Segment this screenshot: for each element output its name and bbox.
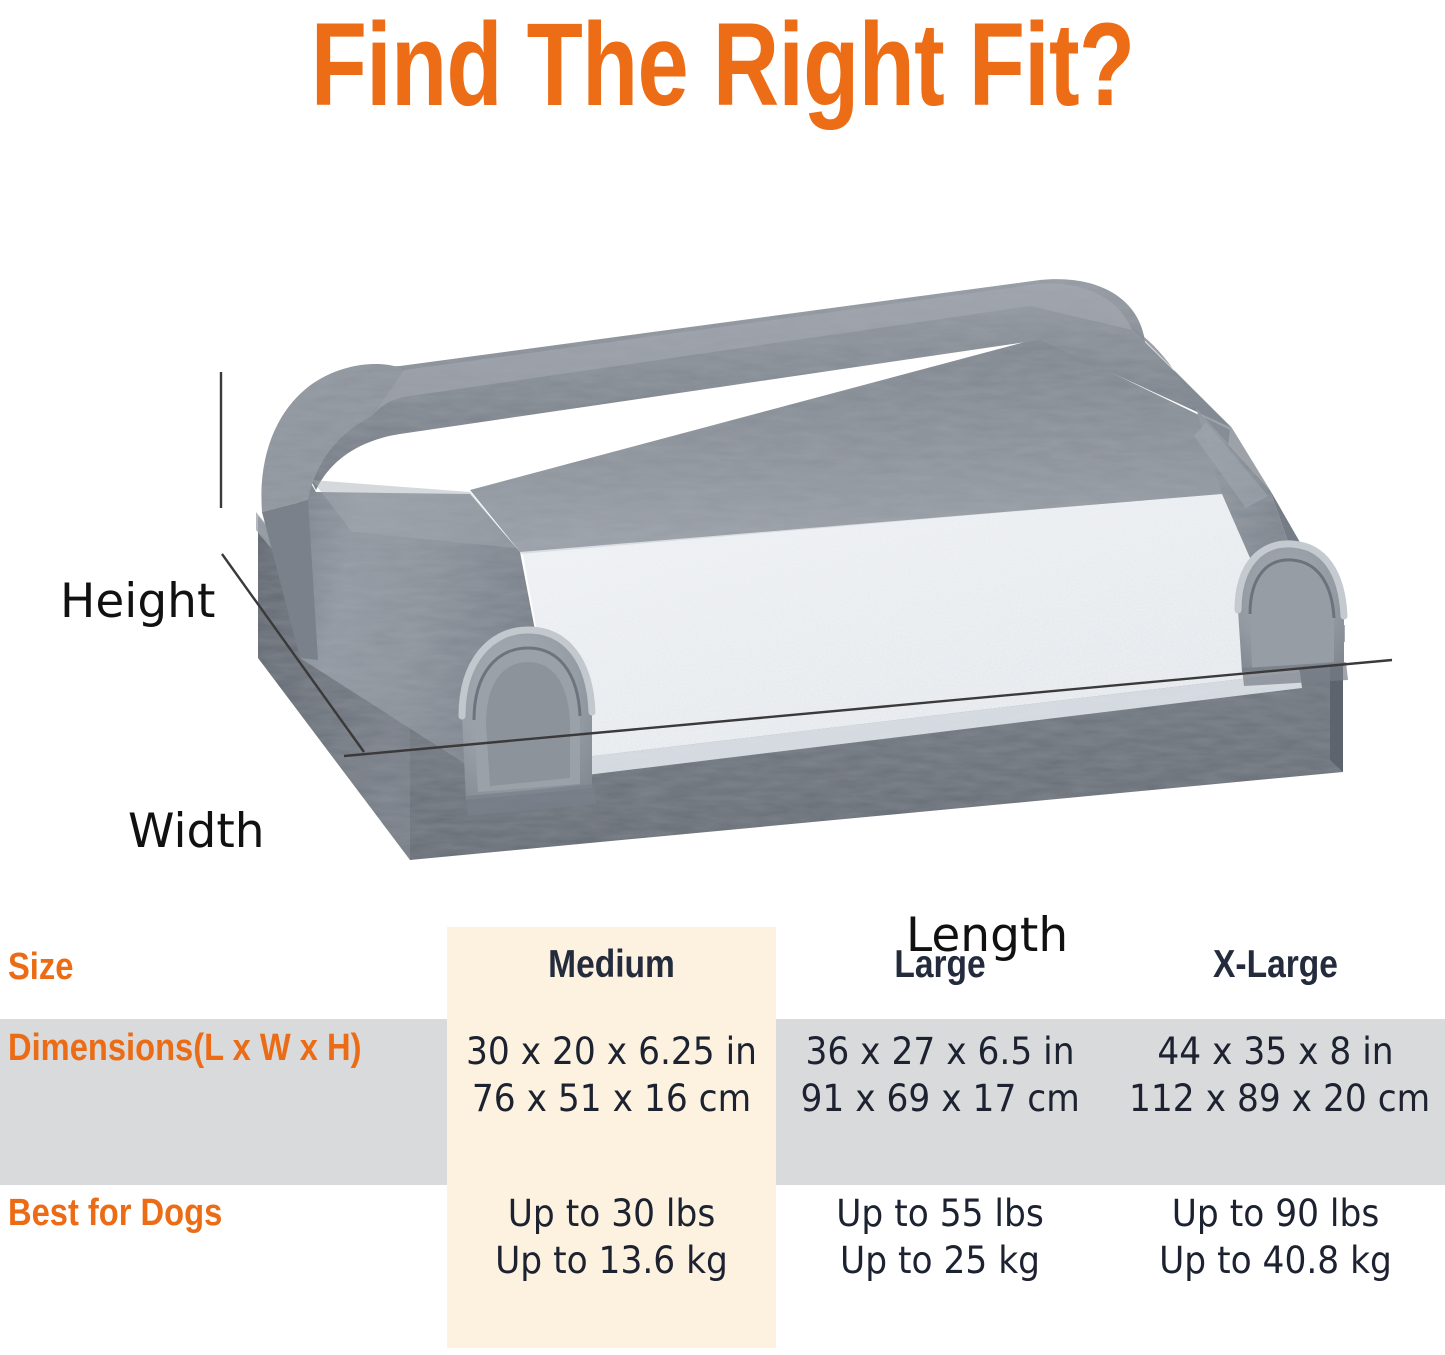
- cell-dimensions-medium-in: 30 x 20 x 6.25 in: [459, 1028, 765, 1075]
- cell-dimensions-medium: 30 x 20 x 6.25 in 76 x 51 x 16 cm: [459, 1028, 765, 1123]
- cell-weight-large-lbs: Up to 55 lbs: [801, 1190, 1080, 1237]
- row-label-best-for-dogs: Best for Dogs: [8, 1192, 222, 1235]
- cell-dimensions-large: 36 x 27 x 6.5 in 91 x 69 x 17 cm: [801, 1028, 1080, 1123]
- product-image-area: Height Width Length: [0, 160, 1445, 900]
- cell-dimensions-xlarge-in: 44 x 35 x 8 in: [1129, 1028, 1422, 1075]
- column-header-medium: Medium: [470, 943, 753, 987]
- callout-height-label: Height: [60, 574, 215, 629]
- cell-weight-xlarge-lbs: Up to 90 lbs: [1129, 1190, 1422, 1237]
- cell-dimensions-xlarge-cm: 112 x 89 x 20 cm: [1129, 1075, 1422, 1122]
- callout-width-label: Width: [128, 804, 265, 859]
- cell-weight-medium-kg: Up to 13.6 kg: [459, 1237, 765, 1284]
- row-label-size: Size: [8, 946, 73, 989]
- cell-dimensions-large-cm: 91 x 69 x 17 cm: [801, 1075, 1080, 1122]
- cell-weight-xlarge: Up to 90 lbs Up to 40.8 kg: [1129, 1190, 1422, 1285]
- cell-weight-medium-lbs: Up to 30 lbs: [459, 1190, 765, 1237]
- dog-bed-illustration: [0, 160, 1445, 900]
- page-title: Find The Right Fit?: [159, 2, 1286, 129]
- cell-weight-xlarge-kg: Up to 40.8 kg: [1129, 1237, 1422, 1284]
- cell-weight-large-kg: Up to 25 kg: [801, 1237, 1080, 1284]
- cell-weight-medium: Up to 30 lbs Up to 13.6 kg: [459, 1190, 765, 1285]
- cell-dimensions-xlarge: 44 x 35 x 8 in 112 x 89 x 20 cm: [1129, 1028, 1422, 1123]
- column-header-xlarge: X-Large: [1140, 943, 1411, 987]
- column-header-large: Large: [811, 943, 1069, 987]
- row-label-dimensions: Dimensions(L x W x H): [8, 1027, 361, 1070]
- cell-dimensions-medium-cm: 76 x 51 x 16 cm: [459, 1075, 765, 1122]
- size-spec-table: Size Dimensions(L x W x H) Best for Dogs…: [0, 900, 1445, 1355]
- cell-weight-large: Up to 55 lbs Up to 25 kg: [801, 1190, 1080, 1285]
- cell-dimensions-large-in: 36 x 27 x 6.5 in: [801, 1028, 1080, 1075]
